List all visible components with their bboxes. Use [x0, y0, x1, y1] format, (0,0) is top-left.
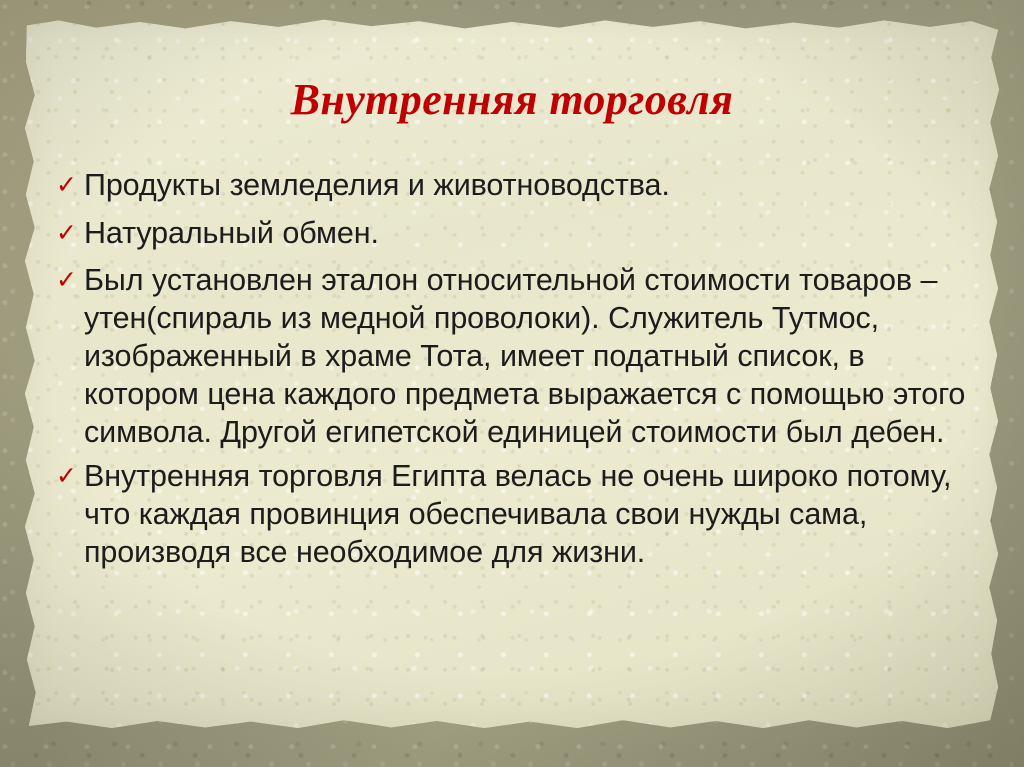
checkmark-icon: ✓: [56, 459, 84, 493]
list-item-text: Внутренняя торговля Египта велась не оче…: [84, 457, 968, 571]
list-item-text: Был установлен эталон относительной стои…: [84, 261, 968, 451]
page-title: Внутренняя торговля: [0, 78, 1024, 122]
bullet-list: ✓ Продукты земледелия и животноводства. …: [56, 166, 968, 577]
list-item: ✓ Внутренняя торговля Египта велась не о…: [56, 457, 968, 571]
checkmark-icon: ✓: [56, 216, 84, 250]
checkmark-icon: ✓: [56, 263, 84, 297]
checkmark-icon: ✓: [56, 168, 84, 202]
list-item: ✓ Натуральный обмен.: [56, 214, 968, 253]
slide-canvas: Внутренняя торговля ✓ Продукты земледели…: [0, 0, 1024, 767]
list-item-text: Натуральный обмен.: [84, 214, 968, 253]
list-item: ✓ Был установлен эталон относительной ст…: [56, 261, 968, 451]
list-item-text: Продукты земледелия и животноводства.: [84, 166, 968, 205]
slide-content: Внутренняя торговля ✓ Продукты земледели…: [0, 0, 1024, 767]
list-item: ✓ Продукты земледелия и животноводства.: [56, 166, 968, 205]
